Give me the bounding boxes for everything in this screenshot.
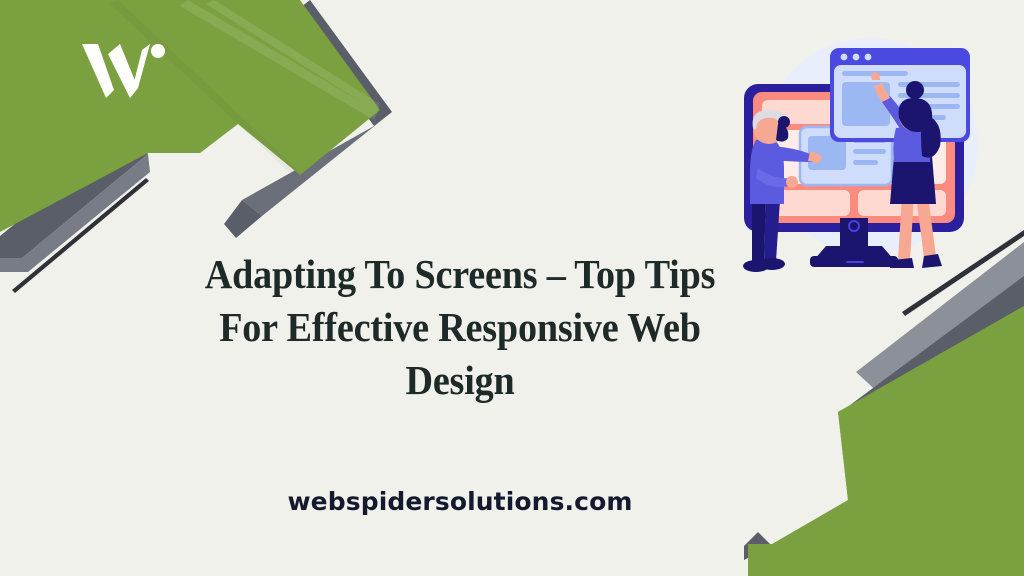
monitor-base-detail xyxy=(846,261,864,263)
w-monogram-logo[interactable] xyxy=(80,40,170,102)
page-title: Adapting To Screens – Top Tips For Effec… xyxy=(181,248,739,407)
window-dot-2-icon xyxy=(853,54,860,61)
window-dot-3-icon xyxy=(865,54,872,61)
site-url[interactable]: webspidersolutions.com xyxy=(160,487,760,516)
logo-w-glyph xyxy=(82,44,150,98)
window-dot-1-icon xyxy=(841,54,848,61)
slide-canvas: Adapting To Screens – Top Tips For Effec… xyxy=(0,0,1024,576)
title-block: Adapting To Screens – Top Tips For Effec… xyxy=(160,248,760,407)
responsive-web-design-illustration xyxy=(722,28,990,273)
logo-dot-icon xyxy=(151,44,165,58)
